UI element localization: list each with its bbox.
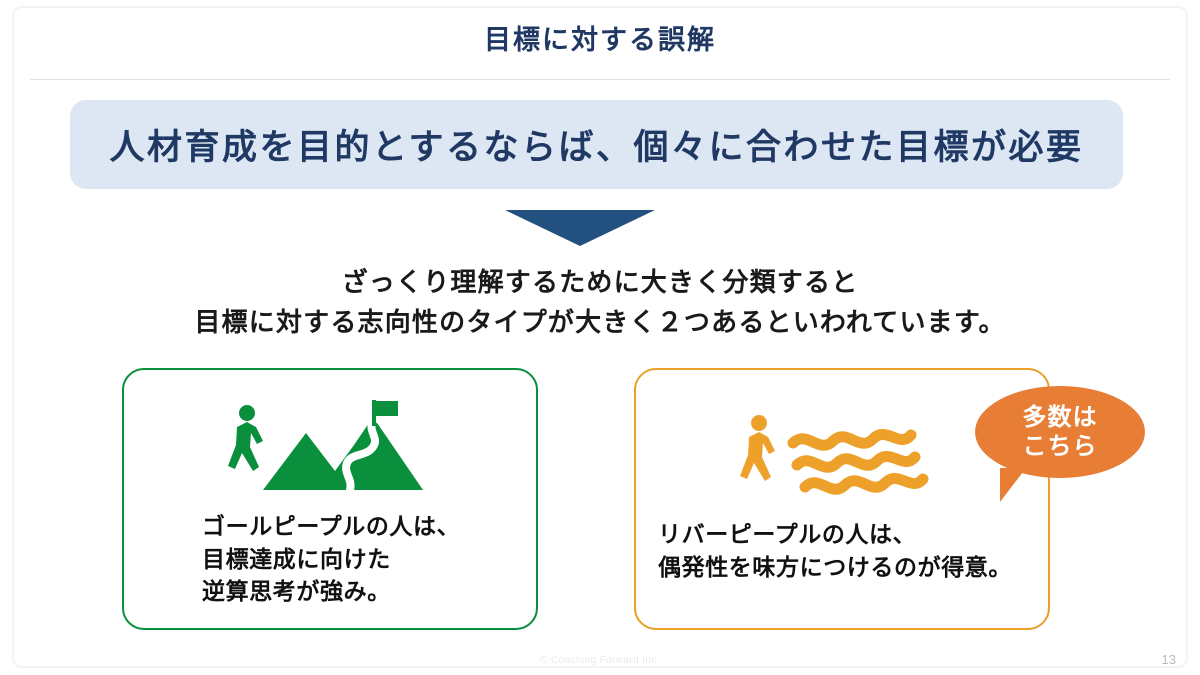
slide-canvas: 目標に対する誤解 人材育成を目的とするならば、個々に合わせた目標が必要 ざっくり… xyxy=(0,0,1200,675)
badge-line-2: こちら xyxy=(1023,432,1098,461)
lead-line-1: ざっくり理解するために大きく分類すると xyxy=(342,267,859,297)
card-river-people-text: リバーピープルの人は、 偶発性を味方につけるのが得意。 xyxy=(658,518,1012,583)
mountain-flag-hiker-icon xyxy=(124,394,536,500)
badge-line-1: 多数は xyxy=(1023,403,1098,432)
key-message-banner: 人材育成を目的とするならば、個々に合わせた目標が必要 xyxy=(70,100,1123,189)
card-goal-people-text: ゴールピープルの人は、 目標達成に向けた 逆算思考が強み。 xyxy=(202,510,460,608)
key-message-text: 人材育成を目的とするならば、個々に合わせた目標が必要 xyxy=(70,100,1123,189)
card-river-people-line-2: 偶発性を味方につけるのが得意。 xyxy=(658,551,1012,584)
triangle-down-icon xyxy=(505,210,655,246)
status-badge: 多数は こちら xyxy=(975,386,1145,478)
card-river-people-line-1: リバーピープルの人は、 xyxy=(658,518,1012,551)
page-number: 13 xyxy=(1162,652,1176,667)
lead-paragraph: ざっくり理解するために大きく分類すると 目標に対する志向性のタイプが大きく２つあ… xyxy=(0,262,1200,343)
card-goal-people-line-3: 逆算思考が強み。 xyxy=(202,575,460,608)
card-goal-people: ゴールピープルの人は、 目標達成に向けた 逆算思考が強み。 xyxy=(122,368,538,630)
lead-line-2: 目標に対する志向性のタイプが大きく２つあるといわれています。 xyxy=(0,302,1200,342)
title-divider xyxy=(30,79,1170,80)
card-goal-people-line-2: 目標達成に向けた xyxy=(202,543,460,576)
copyright-notice: © Coaching Forward Inc. xyxy=(0,655,1200,666)
page-title: 目標に対する誤解 xyxy=(0,24,1200,58)
badge-label: 多数は こちら xyxy=(975,386,1145,478)
card-goal-people-line-1: ゴールピープルの人は、 xyxy=(202,510,460,543)
